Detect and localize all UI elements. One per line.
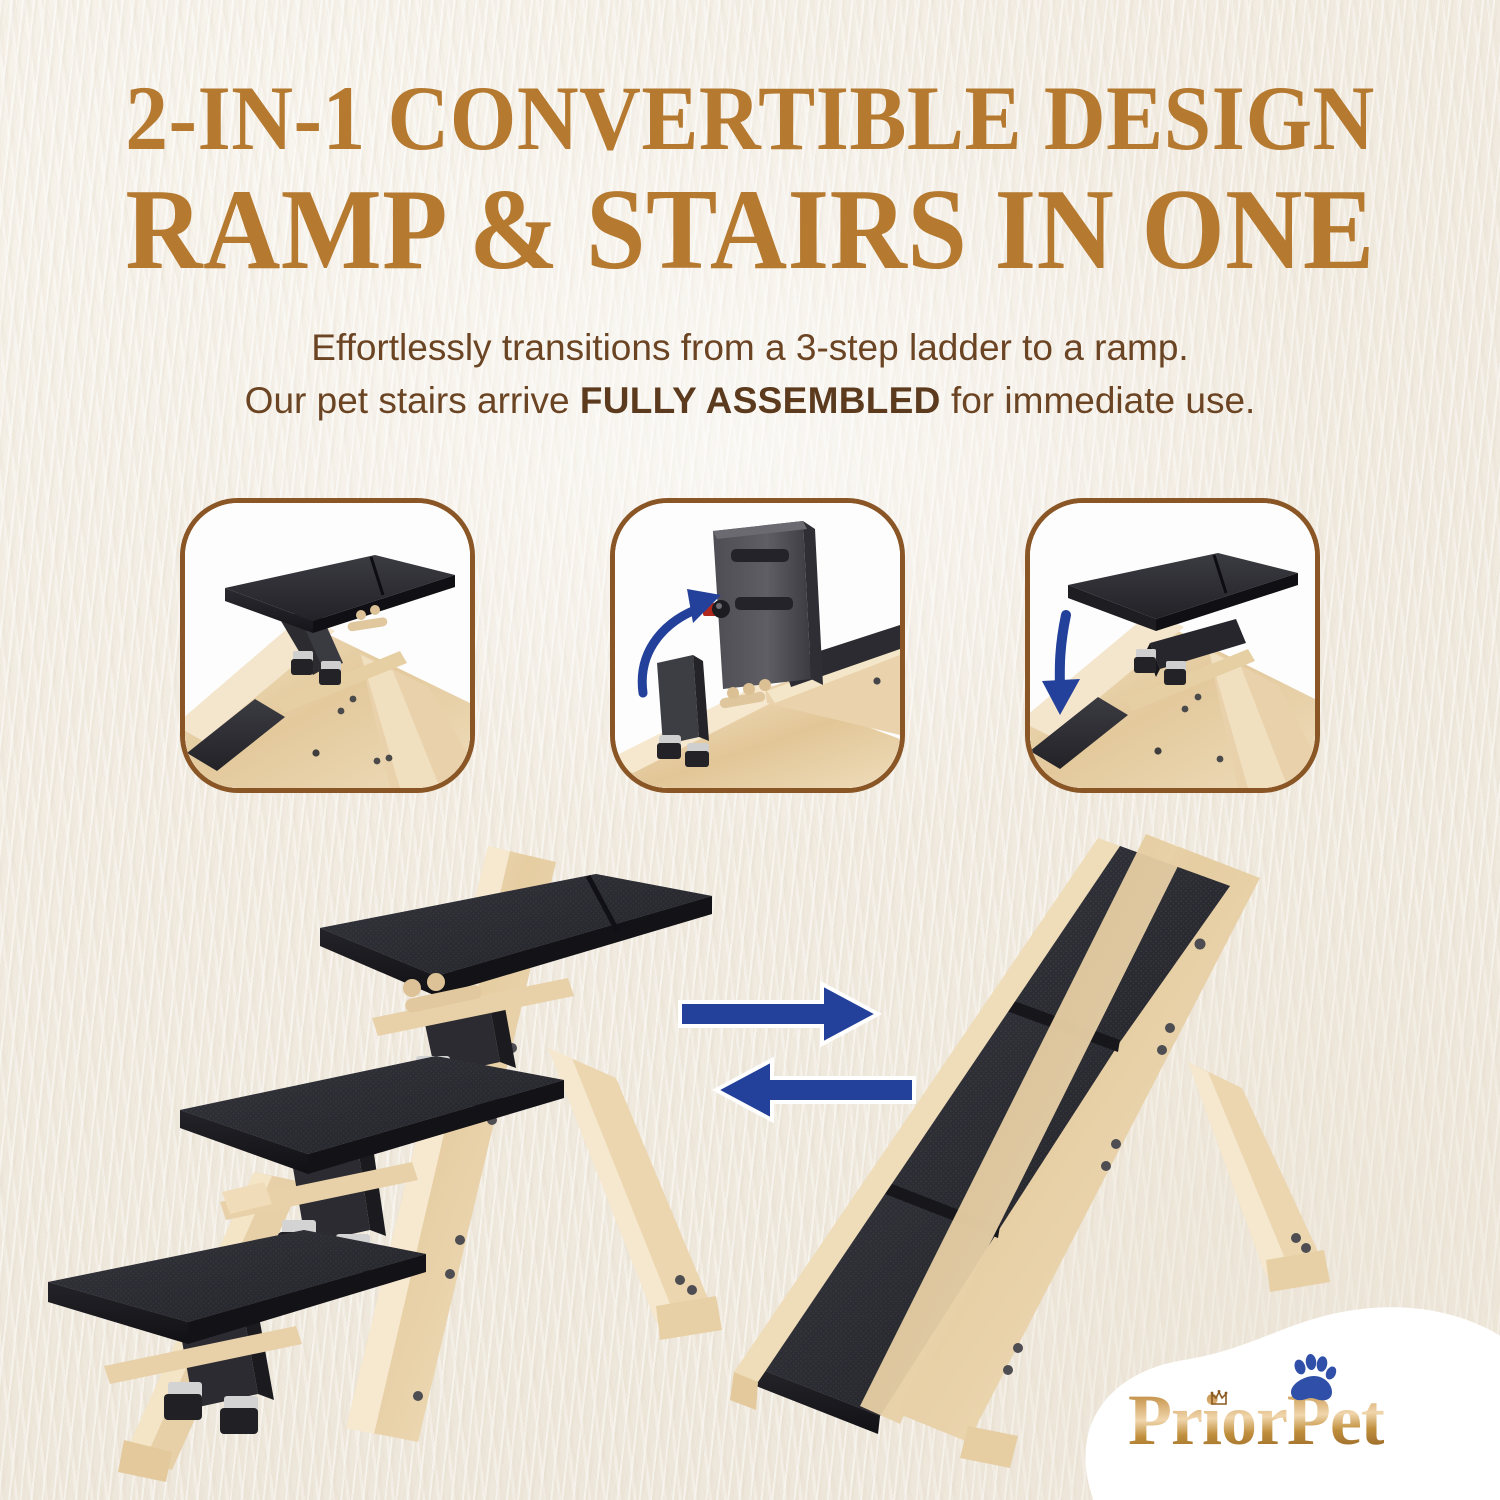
panel-3-image [1030,503,1315,788]
stairs-illustration [40,810,760,1490]
headline-line-1: 2-IN-1 CONVERTIBLE DESIGN [53,74,1448,162]
instruction-panel-1 [180,498,475,793]
product-stairs [40,810,760,1490]
subtitle-emphasis: FULLY ASSEMBLED [580,380,941,421]
brand-wordmark: PriorPet [1128,1384,1384,1456]
brand-logo: PriorPet [1128,1372,1448,1456]
subtitle-line-2-before: Our pet stairs arrive [245,380,580,421]
step-folding-down-illustration [1030,503,1315,788]
subtitle-line-1: Effortlessly transitions from a 3-step l… [0,322,1500,373]
step-lifted-upright-illustration [615,503,900,788]
instruction-panel-2 [610,498,905,793]
crown-icon [1210,1390,1236,1406]
subtitle-line-2-after: for immediate use. [941,380,1256,421]
subtitle-line-2: Our pet stairs arrive FULLY ASSEMBLED fo… [0,375,1500,426]
instruction-panel-3 [1025,498,1320,793]
infographic-root: 2-IN-1 CONVERTIBLE DESIGN RAMP & STAIRS … [0,0,1500,1500]
headline-line-2: RAMP & STAIRS IN ONE [53,175,1448,285]
panel-1-image [185,503,470,788]
panel-2-image [615,503,900,788]
step-folded-out-illustration [185,503,470,788]
paw-print-icon [1288,1354,1340,1404]
